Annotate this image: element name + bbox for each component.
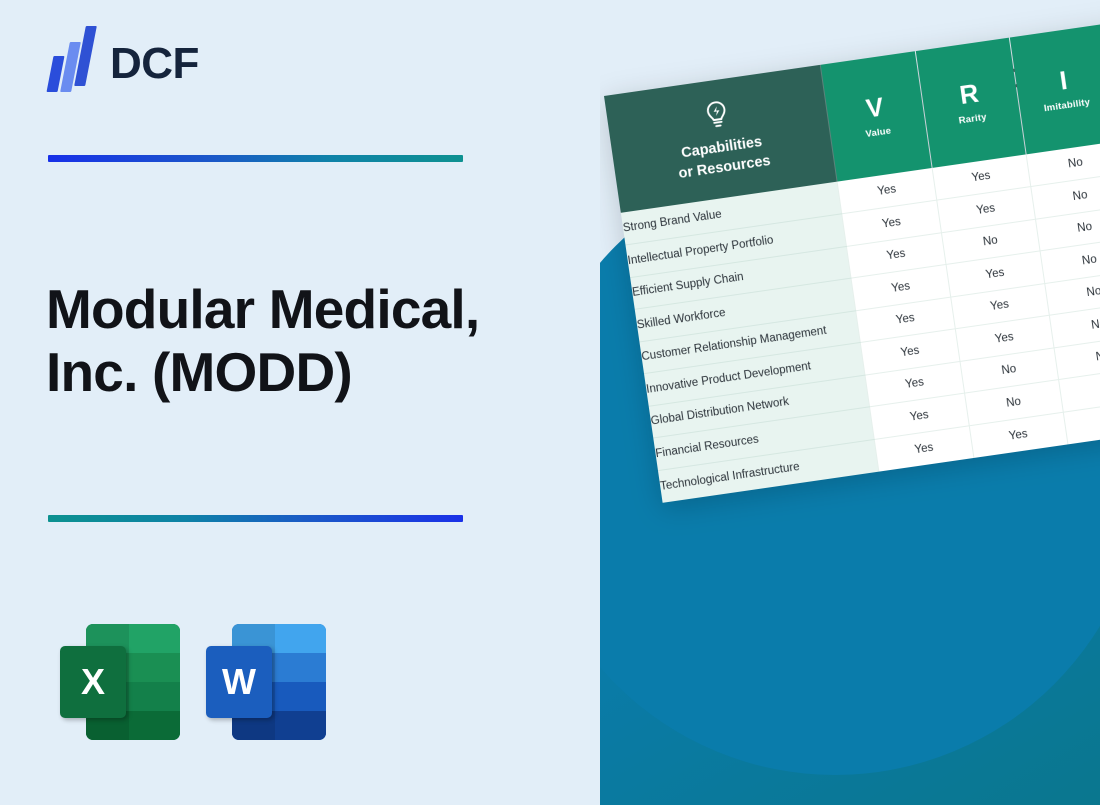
brand-logo[interactable]: DCF (48, 36, 199, 92)
word-letter: W (206, 646, 272, 718)
dcf-bars-logo (48, 36, 96, 92)
word-file-icon[interactable]: W (206, 620, 330, 744)
vrio-table-container: Capabilities or Resources V Value R Rari… (604, 10, 1100, 502)
vrio-table: Capabilities or Resources V Value R Rari… (604, 10, 1100, 502)
page-title: Modular Medical, Inc. (MODD) (46, 278, 526, 403)
criteria-header-rarity: R Rarity (915, 38, 1026, 168)
criteria-letter-i: I (1015, 61, 1100, 100)
criteria-letter-v: V (826, 88, 923, 127)
download-formats: X W (60, 620, 330, 744)
criteria-header-value: V Value (820, 51, 931, 181)
cover-left-panel: DCF Modular Medical, Inc. (MODD) X W (0, 0, 600, 805)
criteria-letter-r: R (921, 74, 1018, 113)
excel-letter: X (60, 646, 126, 718)
brand-name: DCF (110, 42, 199, 86)
divider-top (48, 155, 463, 162)
lightbulb-icon (702, 98, 732, 131)
divider-bottom (48, 515, 463, 522)
cover-right-panel: VRIO ANALYSIS Capabilities or Resources (600, 0, 1100, 805)
excel-file-icon[interactable]: X (60, 620, 184, 744)
criteria-header-imitability: I Imitability (1009, 24, 1100, 154)
